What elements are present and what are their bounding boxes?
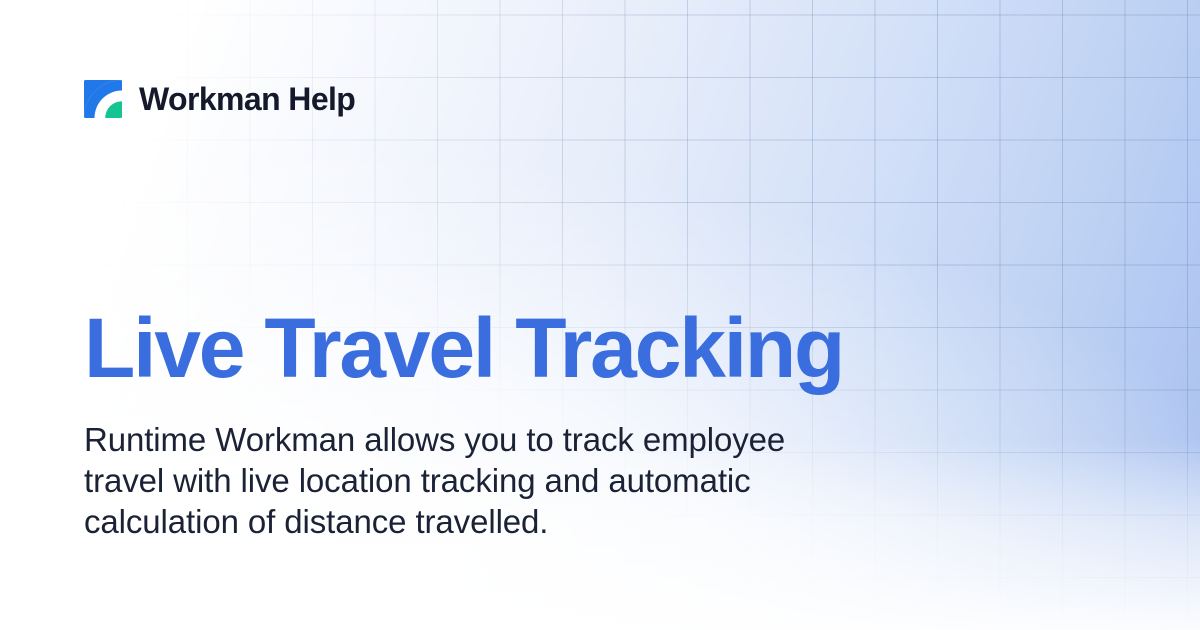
brand-name: Workman Help xyxy=(139,83,355,115)
social-card: Workman Help Live Travel Tracking Runtim… xyxy=(0,0,1200,630)
brand-lockup: Workman Help xyxy=(84,80,355,118)
card-content: Workman Help Live Travel Tracking Runtim… xyxy=(0,0,1200,630)
page-description: Runtime Workman allows you to track empl… xyxy=(84,419,824,542)
workman-logo-icon xyxy=(84,80,122,118)
page-title: Live Travel Tracking xyxy=(84,306,843,392)
